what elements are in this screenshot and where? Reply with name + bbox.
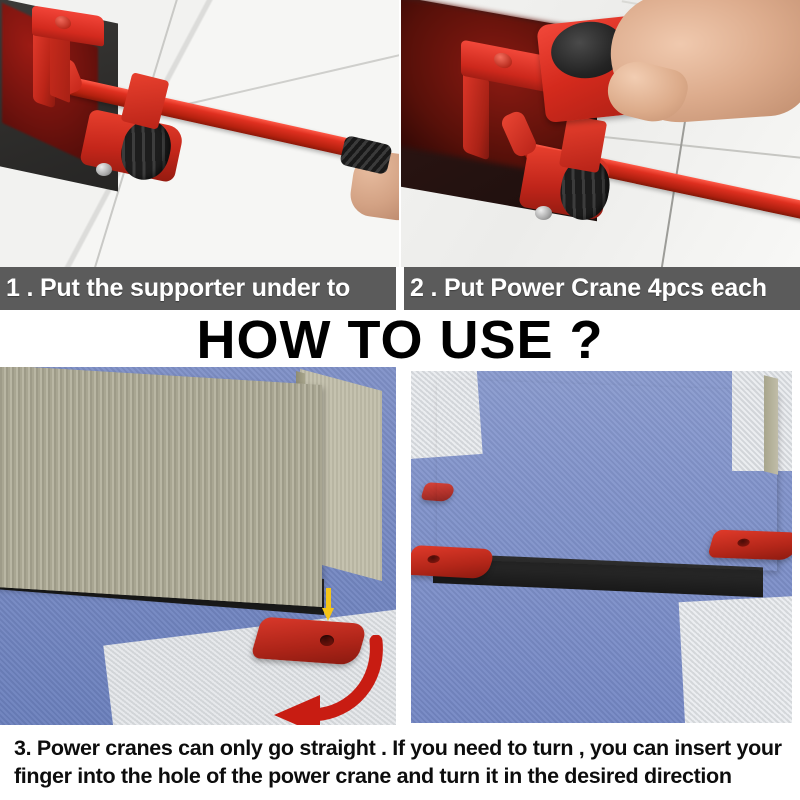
power-crane-slider xyxy=(707,530,792,561)
turn-direction-arrow-icon xyxy=(250,635,390,725)
step-3-left-photo xyxy=(0,367,396,725)
step-2-caption: 2 . Put Power Crane 4pcs each xyxy=(404,267,800,310)
handle-grip xyxy=(339,135,393,175)
roller-arm xyxy=(121,72,170,130)
step-3-right-photo xyxy=(403,367,800,725)
step-2-photo xyxy=(401,0,800,267)
lifter-bracket xyxy=(32,11,104,107)
lifter-bracket xyxy=(461,48,551,156)
white-carpet-tile xyxy=(679,596,792,723)
insert-finger-down-arrow-icon xyxy=(322,588,334,624)
carpet-scene xyxy=(411,371,792,723)
page-title: HOW TO USE ? xyxy=(0,310,800,370)
wheel-axle-bolt xyxy=(96,163,112,176)
how-to-use-infographic: 1 . Put the supporter under to 2 . Put P… xyxy=(0,0,800,800)
bracket-face-plate xyxy=(50,31,70,103)
step-1-photo xyxy=(0,0,399,267)
cabinet-corner-edge xyxy=(764,375,778,474)
finger-hole xyxy=(736,538,750,546)
step-3-caption: 3. Power cranes can only go straight . I… xyxy=(0,728,800,800)
power-crane-slider xyxy=(411,545,495,579)
arrow-shaft xyxy=(326,588,331,610)
arrow-head xyxy=(322,608,334,621)
step-1-caption: 1 . Put the supporter under to xyxy=(0,267,396,310)
finger-hole xyxy=(426,555,440,564)
wheel-axle-bolt xyxy=(535,206,552,220)
bracket-side-plate xyxy=(463,71,489,160)
cabinet-front-panel xyxy=(0,367,322,607)
